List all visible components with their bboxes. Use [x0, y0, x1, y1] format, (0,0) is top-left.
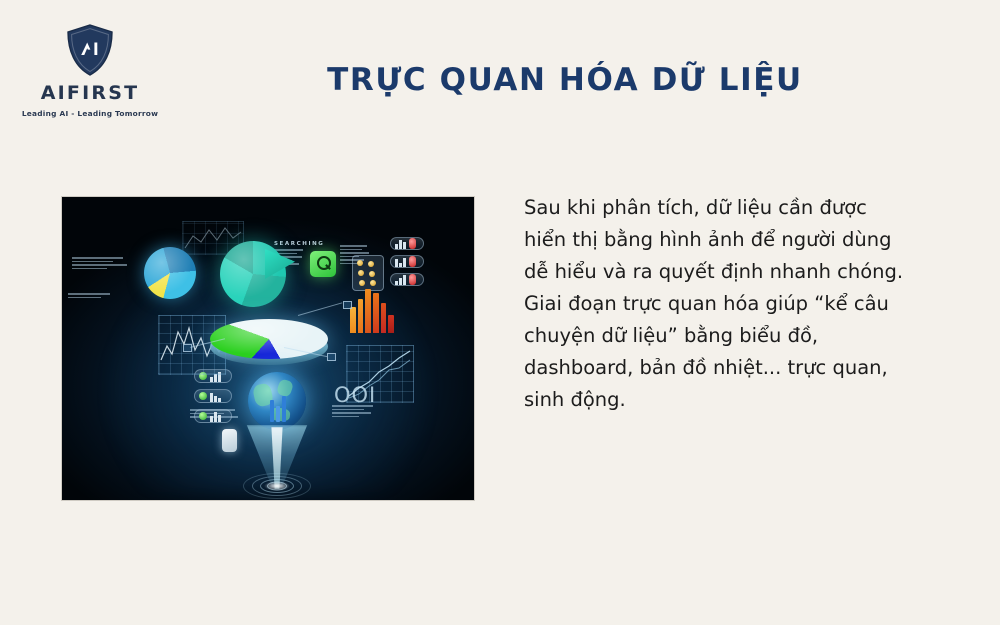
concentric-rings — [240, 473, 314, 499]
status-panel — [390, 273, 424, 286]
alert-indicator — [409, 274, 416, 285]
chip-grid-panel — [352, 255, 384, 291]
slide-root: AIFIRST Leading AI - Leading Tomorrow TR… — [0, 0, 1000, 625]
body-paragraph: Sau khi phân tích, dữ liệu cần được hiển… — [524, 192, 914, 416]
beam-impact-glow — [264, 481, 290, 491]
data-visualization-image: SEARCHING — [62, 197, 474, 500]
logo-tagline: Leading AI - Leading Tomorrow — [18, 109, 162, 118]
mini-bars — [210, 411, 221, 422]
status-panel — [390, 255, 424, 268]
pie-chart-3d-disc — [210, 319, 328, 365]
metric-panel — [194, 409, 232, 423]
mini-bars — [395, 238, 406, 249]
brand-logo: AIFIRST Leading AI - Leading Tomorrow — [18, 22, 162, 118]
page-title: TRỰC QUAN HÓA DỮ LIỆU — [180, 62, 950, 98]
status-dot — [199, 412, 207, 420]
metric-panel — [194, 389, 232, 403]
code-lines-left-2 — [68, 293, 120, 298]
alert-indicator — [409, 238, 416, 249]
pie-chart-blue-yellow — [144, 247, 196, 299]
search-magnifier-icon — [310, 251, 336, 277]
globe-icon — [248, 372, 306, 430]
device-icon — [222, 429, 237, 452]
mini-bars — [210, 391, 221, 402]
leader-marker — [343, 301, 352, 309]
pie-chart-teal — [220, 241, 286, 307]
leader-marker — [327, 353, 336, 361]
logo-wordmark: AIFIRST — [18, 82, 162, 104]
leader-marker — [183, 344, 192, 352]
mini-bars — [395, 274, 406, 285]
bar-chart-orange — [350, 287, 394, 333]
mini-bars — [395, 256, 406, 267]
alert-indicator — [409, 256, 416, 267]
ool-label: OOI — [334, 383, 376, 407]
code-lines-left — [72, 257, 130, 269]
status-dot — [199, 392, 207, 400]
shield-ai-icon — [18, 22, 162, 78]
searching-label: SEARCHING — [274, 241, 324, 247]
status-panel — [390, 237, 424, 250]
